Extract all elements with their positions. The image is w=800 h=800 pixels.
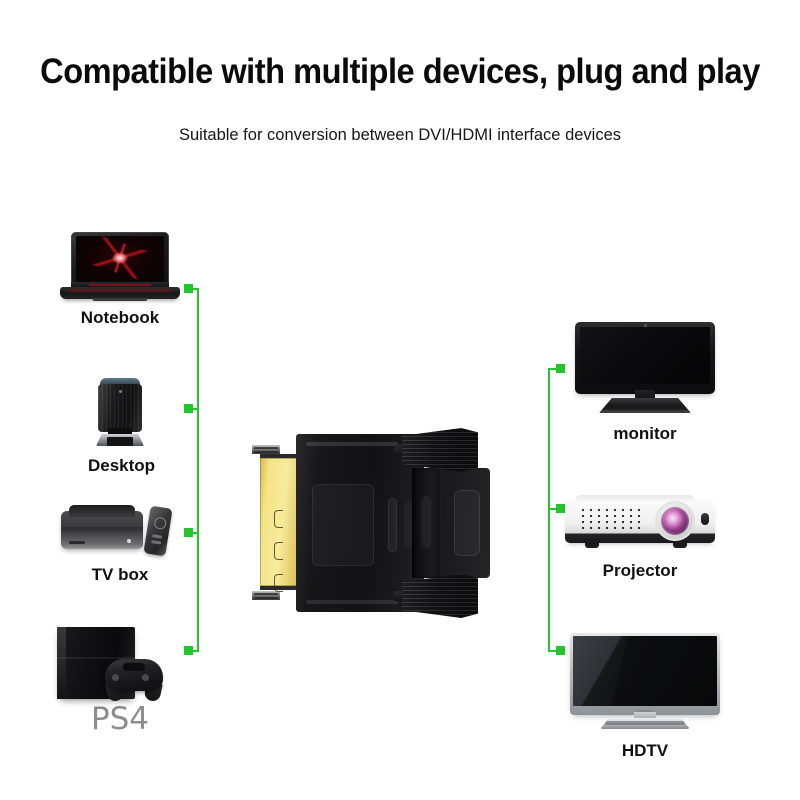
page-title: Compatible with multiple devices, plug a… [28, 52, 772, 92]
bracket-node-hdtv [556, 646, 565, 655]
device-desktop: Desktop [88, 378, 152, 476]
device-hdtv: HDTV [570, 633, 720, 761]
tv-box-icon [58, 503, 182, 559]
adapter-pin-top [252, 445, 280, 454]
device-label-hdtv: HDTV [570, 741, 720, 761]
adapter-thumbscrew-top [402, 428, 478, 472]
bracket-spine [197, 288, 199, 652]
projector-icon [565, 493, 715, 555]
infographic-canvas: Compatible with multiple devices, plug a… [0, 0, 800, 800]
bracket-node-desktop [184, 404, 193, 413]
bracket-connector-left [184, 284, 206, 656]
device-label-desktop: Desktop [88, 456, 152, 476]
device-label-tv-box: TV box [58, 565, 182, 585]
device-label-monitor: monitor [575, 424, 715, 444]
bracket-node-ps4 [184, 646, 193, 655]
device-label-notebook: Notebook [58, 308, 182, 328]
page-subtitle: Suitable for conversion between DVI/HDMI… [0, 124, 800, 146]
device-label-ps4: PS4 [45, 701, 195, 737]
hdmi-female-port [412, 468, 490, 578]
desktop-tower-icon [88, 378, 152, 450]
bracket-spine [548, 368, 550, 652]
adapter-pin-bottom [252, 591, 280, 600]
monitor-icon [575, 322, 715, 418]
dvi-hdmi-adapter-icon [252, 428, 490, 618]
bracket-stub [193, 532, 199, 534]
bracket-stub [193, 288, 199, 290]
adapter-thumbscrew-bottom [402, 574, 478, 618]
bracket-node-tvbox [184, 528, 193, 537]
device-tv-box: TV box [58, 503, 182, 585]
bracket-stub [193, 408, 199, 410]
bracket-node-monitor [556, 364, 565, 373]
device-projector: Projector [565, 493, 715, 581]
device-ps4: PS4 [45, 625, 195, 737]
device-monitor: monitor [575, 322, 715, 444]
game-console-icon [45, 625, 195, 703]
hdtv-icon [570, 633, 720, 735]
device-label-projector: Projector [565, 561, 715, 581]
laptop-icon [58, 232, 182, 302]
bracket-stub [193, 650, 199, 652]
bracket-node-notebook [184, 284, 193, 293]
device-notebook: Notebook [58, 232, 182, 328]
bracket-node-projector [556, 504, 565, 513]
